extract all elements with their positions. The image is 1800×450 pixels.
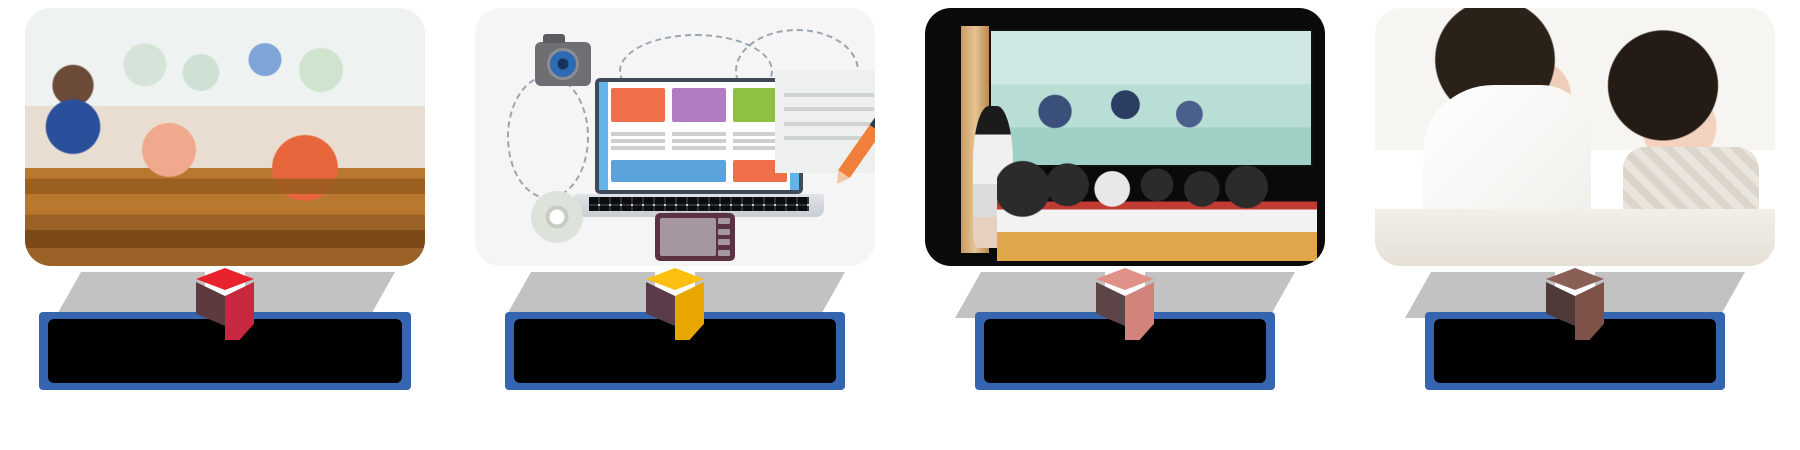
panel-3[interactable] — [900, 0, 1350, 450]
cube-badge-icon — [1096, 268, 1154, 340]
panel-2[interactable] — [450, 0, 900, 450]
panel-1[interactable] — [0, 0, 450, 450]
cd-disc-icon — [531, 191, 583, 243]
cube-badge-icon — [1546, 268, 1604, 340]
laptop-icon — [595, 78, 803, 194]
panel-2-image-card[interactable] — [475, 8, 875, 266]
dashed-loop-left — [507, 75, 589, 199]
panel-1-image-card[interactable] — [25, 8, 425, 266]
graphics-tablet-icon — [655, 213, 735, 261]
four-panel-board — [0, 0, 1800, 450]
panel-4[interactable] — [1350, 0, 1800, 450]
classroom-raised-hands-photo — [25, 8, 425, 266]
camera-icon — [535, 42, 591, 86]
cube-badge-icon — [646, 268, 704, 340]
panel-4-image-card[interactable] — [1375, 8, 1775, 266]
adult-helping-child-write-photo — [1375, 8, 1775, 266]
digital-media-illustration — [475, 8, 875, 266]
panel-3-image-card[interactable] — [925, 8, 1325, 266]
cube-badge-icon — [196, 268, 254, 340]
classroom-projection-screen-photo — [925, 8, 1325, 266]
